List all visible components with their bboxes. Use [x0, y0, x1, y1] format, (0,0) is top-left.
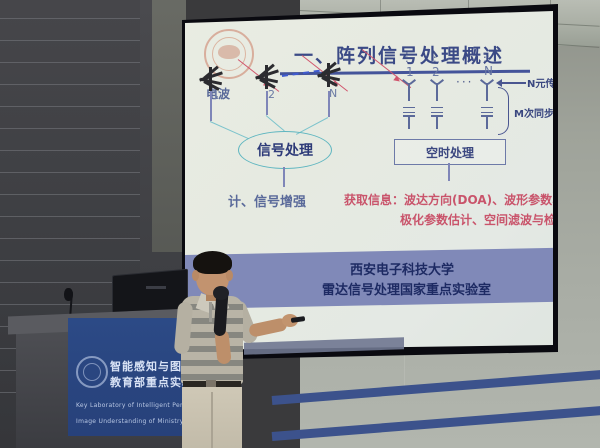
sensor-vdots-2: ::	[433, 53, 437, 61]
red-text-line-2: 极化参数估计、空间滤波与检测	[400, 211, 553, 228]
array-annotation-arrow	[496, 79, 502, 87]
footer-laboratory: 雷达信号处理国家重点实验室	[322, 279, 491, 298]
feed-diag-1	[210, 121, 249, 139]
signal-processing-label: 信号处理	[257, 140, 313, 160]
feed-line-1	[210, 91, 212, 121]
sampling-annotation-label: M次同步采样	[514, 105, 553, 120]
laptop-hinge	[146, 286, 166, 289]
sensor-vdots-n: ::	[483, 53, 487, 61]
speaker-ear-left	[192, 270, 199, 281]
spacetime-processing-label: 空时处理	[426, 144, 474, 161]
wall-strip-mid	[152, 0, 186, 252]
sensor-label-n: N	[484, 64, 493, 78]
sampling-brace	[498, 87, 509, 135]
array-annotation-line	[500, 82, 526, 84]
wave-ray-3-arrow	[393, 75, 401, 83]
footer-university: 西安电子科技大学	[350, 259, 454, 278]
array-annotation-label: N元传感器阵列	[527, 75, 553, 90]
antenna-label-2: 2	[268, 88, 275, 101]
spacetime-output-line	[448, 163, 450, 181]
antenna-label-1: 1	[212, 89, 219, 102]
red-text-line-1: 获取信息：波达方向(DOA)、波形参数、	[344, 191, 553, 208]
screenshot-root: 一、阵列信号处理概述 电波	[0, 0, 600, 448]
ministry-seal-icon	[76, 356, 108, 388]
signal-processing-node: 信号处理	[238, 131, 332, 169]
antenna-1-icon	[198, 67, 224, 91]
microphone-capsule	[213, 286, 229, 300]
speaker-shirt-placket	[209, 302, 212, 322]
spacetime-processing-box: 空时处理	[394, 139, 506, 165]
processing-output-line	[283, 167, 285, 187]
sensor-ellipsis: ···	[456, 75, 473, 89]
feed-line-2	[266, 91, 268, 115]
antenna-label-n: N	[329, 87, 337, 100]
antenna-2-icon	[254, 65, 280, 89]
feed-line-n	[328, 91, 330, 117]
sensor-vdots-1: ::	[405, 53, 409, 61]
antenna-n-icon	[316, 63, 342, 87]
speaker-ear-right	[226, 270, 233, 281]
left-output-text: 计、信号增强	[228, 191, 306, 210]
gooseneck-mic-head	[64, 288, 73, 301]
feed-diag-2	[266, 115, 285, 131]
trouser-seam	[211, 392, 213, 448]
